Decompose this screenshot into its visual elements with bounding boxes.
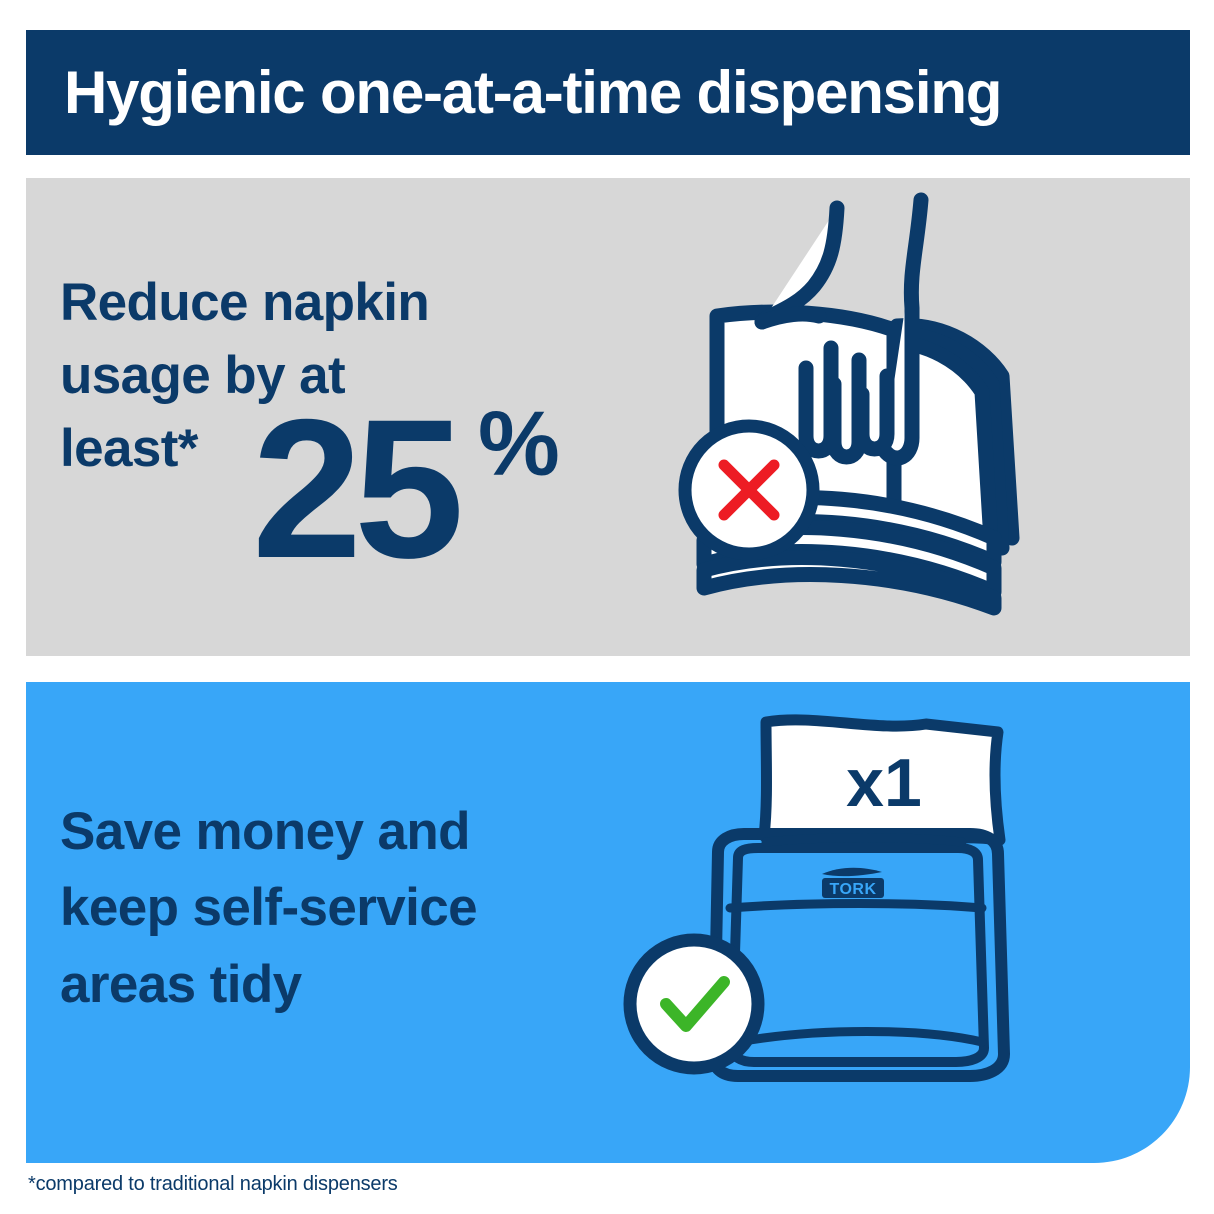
napkin-count-label: x1	[846, 745, 922, 821]
blue-panel-copy: Save money and keep self-service areas t…	[60, 794, 660, 1023]
infographic-root: Hygienic one-at-a-time dispensing Reduce…	[0, 0, 1214, 1214]
dispenser-illustration: x1 TORK	[626, 702, 1086, 1122]
dispenser-bottom-lip	[738, 1032, 982, 1043]
blue-headline-line-1: Save money and	[60, 794, 660, 870]
stat-number: 25	[252, 390, 456, 588]
badge-circle	[630, 940, 758, 1068]
red-cross-badge	[685, 426, 813, 554]
gray-panel-copy: Reduce napkin usage by at least* 25 %	[60, 266, 620, 562]
tork-wordmark: TORK	[829, 881, 876, 898]
blue-headline-line-2: keep self-service	[60, 870, 660, 946]
hand-napkins-illustration	[644, 188, 1064, 618]
hand-napkins-svg	[644, 188, 1064, 618]
green-check-badge	[630, 940, 758, 1068]
napkin-corner	[762, 314, 819, 322]
dispenser-seam	[730, 904, 982, 909]
stat-line: least* 25 %	[60, 412, 620, 562]
benefit-panel-reduce-usage: Reduce napkin usage by at least* 25 %	[26, 178, 1190, 656]
page-title: Hygienic one-at-a-time dispensing	[26, 63, 1001, 123]
tork-logo: TORK	[822, 868, 884, 898]
stat-percent-symbol: %	[478, 398, 558, 490]
dispenser-svg: x1 TORK	[626, 702, 1086, 1122]
benefit-panel-save-money: Save money and keep self-service areas t…	[26, 682, 1190, 1163]
blue-headline-line-3: areas tidy	[60, 947, 660, 1023]
footnote: *compared to traditional napkin dispense…	[28, 1173, 398, 1196]
dispenser-slot	[766, 838, 962, 843]
gray-headline-line-1: Reduce napkin	[60, 266, 620, 339]
tork-wave-icon	[822, 868, 882, 876]
header-band: Hygienic one-at-a-time dispensing	[26, 30, 1190, 155]
stat-lead-label: least*	[60, 412, 198, 485]
